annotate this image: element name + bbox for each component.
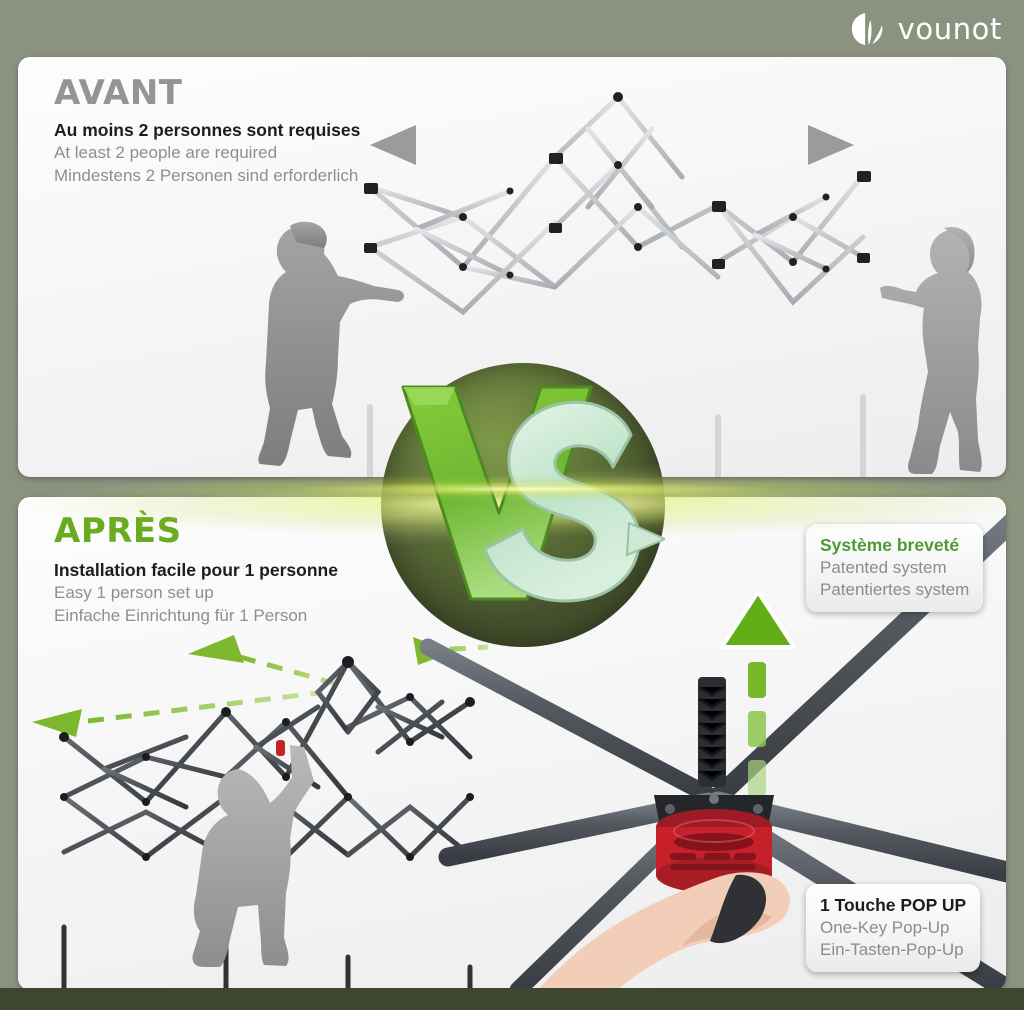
before-text-block: Au moins 2 personnes sont requises At le… <box>54 119 360 187</box>
before-line-en: At least 2 people are required <box>54 142 360 164</box>
after-line-fr: Installation facile pour 1 personne <box>54 559 338 582</box>
after-text-block: Installation facile pour 1 personne Easy… <box>54 559 338 627</box>
callout-patent-en: Patented system <box>820 557 969 579</box>
vs-badge <box>381 363 665 647</box>
after-heading: APRÈS <box>54 511 182 551</box>
woman-pulling-silhouette <box>880 222 1006 477</box>
ratchet-rack-icon <box>698 677 726 787</box>
crouching-person-silhouette <box>186 735 361 970</box>
callout-popup-de: Ein-Tasten-Pop-Up <box>820 939 966 961</box>
after-line-de: Einfache Einrichtung für 1 Person <box>54 605 338 627</box>
callout-one-key-popup: 1 Touche POP UP One-Key Pop-Up Ein-Taste… <box>806 884 980 972</box>
callout-patent-fr: Système breveté <box>820 534 969 557</box>
before-heading: AVANT <box>54 73 182 113</box>
callout-popup-en: One-Key Pop-Up <box>820 917 966 939</box>
brand-name: vounot <box>898 12 1002 46</box>
after-line-en: Easy 1 person set up <box>54 582 338 604</box>
callout-popup-fr: 1 Touche POP UP <box>820 894 966 917</box>
callout-patent-de: Patentiertes system <box>820 579 969 601</box>
before-line-de: Mindestens 2 Personen sind erforderlich <box>54 165 360 187</box>
before-line-fr: Au moins 2 personnes sont requises <box>54 119 360 142</box>
infographic-canvas: vounot <box>0 0 1024 1010</box>
callout-patented-system: Système breveté Patented system Patentie… <box>806 524 983 612</box>
vs-badge-label <box>381 363 665 647</box>
leaf-circle-icon <box>848 10 886 48</box>
green-up-arrow-icon <box>722 592 794 796</box>
bottom-olive-band <box>0 988 1024 1010</box>
brand-logo: vounot <box>848 6 1002 52</box>
